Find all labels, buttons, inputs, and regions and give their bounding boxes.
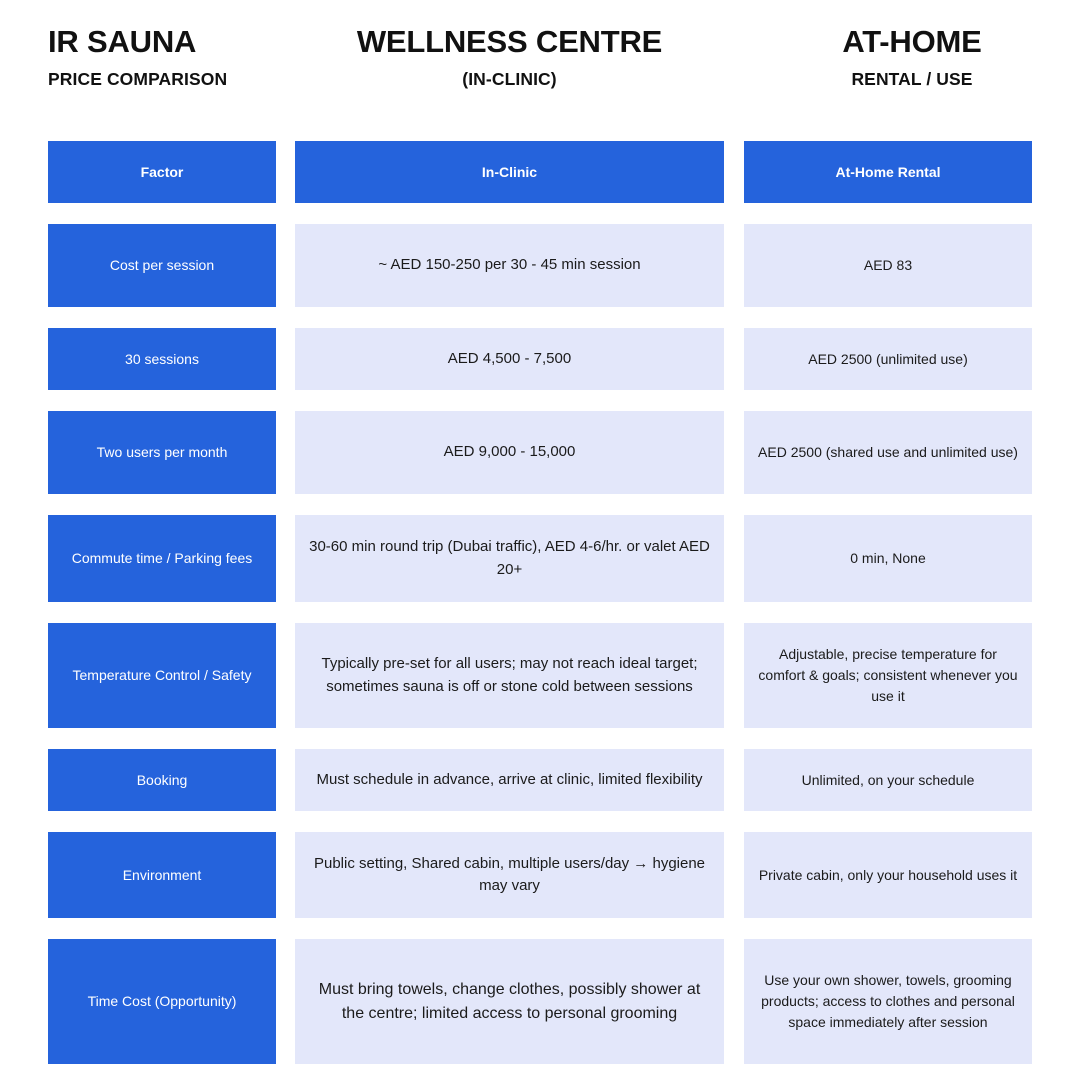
row-at-home-value: Private cabin, only your household uses … xyxy=(758,865,1018,886)
column-header-at-home-rental: At-Home Rental xyxy=(744,141,1032,203)
table-row: Booking Must schedule in advance, arrive… xyxy=(48,749,1032,811)
row-factor-cell: Cost per session xyxy=(48,224,276,307)
table-row: Time Cost (Opportunity) Must bring towel… xyxy=(48,939,1032,1064)
table-row: 30 sessions AED 4,500 - 7,500 AED 2500 (… xyxy=(48,328,1032,390)
column-header-factor-label: Factor xyxy=(62,162,262,182)
row-factor-label: Time Cost (Opportunity) xyxy=(62,991,262,1011)
row-factor-label: Cost per session xyxy=(62,255,262,275)
table-row: Environment Public setting, Shared cabin… xyxy=(48,832,1032,918)
row-factor-cell: Booking xyxy=(48,749,276,811)
table-row: Cost per session ~ AED 150-250 per 30 - … xyxy=(48,224,1032,307)
row-at-home-cell: Unlimited, on your schedule xyxy=(744,749,1032,811)
row-in-clinic-cell: Must bring towels, change clothes, possi… xyxy=(295,939,724,1064)
comparison-table: Factor In-Clinic At-Home Rental Cost per… xyxy=(48,141,1032,1085)
row-factor-cell: 30 sessions xyxy=(48,328,276,390)
table-header-row: Factor In-Clinic At-Home Rental xyxy=(48,141,1032,203)
row-factor-cell: Temperature Control / Safety xyxy=(48,623,276,728)
row-at-home-value: 0 min, None xyxy=(758,548,1018,569)
row-in-clinic-value: Typically pre-set for all users; may not… xyxy=(309,653,710,698)
heading-subtitle-wellness-centre: (IN-CLINIC) xyxy=(295,69,724,90)
row-at-home-cell: AED 2500 (shared use and unlimited use) xyxy=(744,411,1032,494)
row-at-home-cell: Adjustable, precise temperature for comf… xyxy=(744,623,1032,728)
row-at-home-value: AED 83 xyxy=(758,255,1018,276)
column-header-at-home-rental-label: At-Home Rental xyxy=(758,162,1018,183)
row-at-home-cell: 0 min, None xyxy=(744,515,1032,602)
row-factor-cell: Commute time / Parking fees xyxy=(48,515,276,602)
heading-subtitle-at-home: RENTAL / USE xyxy=(744,69,1080,90)
row-in-clinic-value: ~ AED 150-250 per 30 - 45 min session xyxy=(309,254,710,277)
heading-block-wellness-centre: WELLNESS CENTRE (IN-CLINIC) xyxy=(276,24,724,90)
row-in-clinic-cell: Must schedule in advance, arrive at clin… xyxy=(295,749,724,811)
heading-subtitle-ir-sauna: PRICE COMPARISON xyxy=(48,69,276,90)
row-factor-label: Temperature Control / Safety xyxy=(62,665,262,685)
row-factor-cell: Two users per month xyxy=(48,411,276,494)
table-row: Temperature Control / Safety Typically p… xyxy=(48,623,1032,728)
row-at-home-value: Use your own shower, towels, grooming pr… xyxy=(758,970,1018,1033)
row-factor-label: 30 sessions xyxy=(62,349,262,369)
row-in-clinic-cell: AED 4,500 - 7,500 xyxy=(295,328,724,390)
row-factor-label: Commute time / Parking fees xyxy=(62,548,262,568)
column-header-in-clinic: In-Clinic xyxy=(295,141,724,203)
heading-block-ir-sauna: IR SAUNA PRICE COMPARISON xyxy=(0,24,276,90)
row-in-clinic-cell: AED 9,000 - 15,000 xyxy=(295,411,724,494)
column-header-factor: Factor xyxy=(48,141,276,203)
comparison-infographic: IR SAUNA PRICE COMPARISON WELLNESS CENTR… xyxy=(0,0,1080,1080)
column-header-in-clinic-label: In-Clinic xyxy=(309,162,710,183)
row-in-clinic-value: 30-60 min round trip (Dubai traffic), AE… xyxy=(309,536,710,581)
row-at-home-value: Adjustable, precise temperature for comf… xyxy=(758,644,1018,707)
row-factor-cell: Time Cost (Opportunity) xyxy=(48,939,276,1064)
row-in-clinic-value: AED 4,500 - 7,500 xyxy=(309,348,710,371)
heading-title-ir-sauna: IR SAUNA xyxy=(48,24,276,60)
row-factor-label: Booking xyxy=(62,770,262,790)
row-at-home-value: AED 2500 (unlimited use) xyxy=(758,349,1018,370)
table-row: Commute time / Parking fees 30-60 min ro… xyxy=(48,515,1032,602)
row-factor-label: Environment xyxy=(62,865,262,885)
heading-title-at-home: AT-HOME xyxy=(744,24,1080,60)
row-in-clinic-cell: ~ AED 150-250 per 30 - 45 min session xyxy=(295,224,724,307)
row-in-clinic-cell: Typically pre-set for all users; may not… xyxy=(295,623,724,728)
row-at-home-cell: Private cabin, only your household uses … xyxy=(744,832,1032,918)
row-at-home-value: AED 2500 (shared use and unlimited use) xyxy=(758,442,1018,463)
row-factor-cell: Environment xyxy=(48,832,276,918)
row-in-clinic-cell: 30-60 min round trip (Dubai traffic), AE… xyxy=(295,515,724,602)
row-in-clinic-value: Must schedule in advance, arrive at clin… xyxy=(309,769,710,792)
table-row: Two users per month AED 9,000 - 15,000 A… xyxy=(48,411,1032,494)
row-at-home-value: Unlimited, on your schedule xyxy=(758,770,1018,791)
row-at-home-cell: AED 2500 (unlimited use) xyxy=(744,328,1032,390)
row-in-clinic-cell: Public setting, Shared cabin, multiple u… xyxy=(295,832,724,918)
row-factor-label: Two users per month xyxy=(62,442,262,462)
row-at-home-cell: AED 83 xyxy=(744,224,1032,307)
row-in-clinic-value: AED 9,000 - 15,000 xyxy=(309,441,710,464)
row-in-clinic-value: Must bring towels, change clothes, possi… xyxy=(309,978,710,1026)
row-at-home-cell: Use your own shower, towels, grooming pr… xyxy=(744,939,1032,1064)
row-in-clinic-value: Public setting, Shared cabin, multiple u… xyxy=(309,853,710,898)
headings-row: IR SAUNA PRICE COMPARISON WELLNESS CENTR… xyxy=(0,0,1080,90)
heading-block-at-home: AT-HOME RENTAL / USE xyxy=(724,24,1080,90)
heading-title-wellness-centre: WELLNESS CENTRE xyxy=(295,24,724,60)
